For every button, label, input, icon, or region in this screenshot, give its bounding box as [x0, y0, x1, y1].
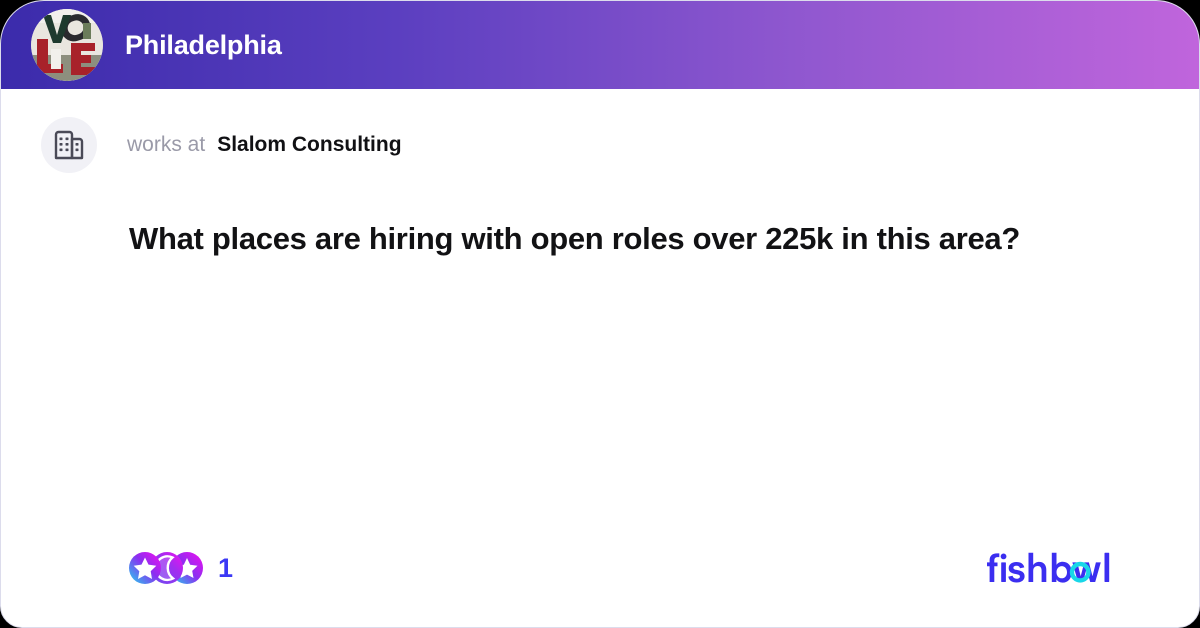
- reactions-group[interactable]: 1: [129, 552, 233, 584]
- star-reaction-icon: [129, 552, 161, 584]
- works-at-label: works at: [127, 133, 205, 157]
- reaction-badges[interactable]: [129, 552, 205, 584]
- company-name: Slalom Consulting: [217, 133, 401, 157]
- author-affiliation-row: works at Slalom Consulting: [1, 89, 1199, 173]
- card-body: works at Slalom Consulting What places a…: [1, 89, 1199, 627]
- card-header: Philadelphia: [1, 1, 1199, 89]
- post-question-text: What places are hiring with open roles o…: [1, 173, 1199, 259]
- building-icon: [41, 117, 97, 173]
- group-title: Philadelphia: [125, 30, 282, 61]
- philadelphia-love-sculpture-avatar[interactable]: [31, 9, 103, 81]
- reaction-count: 1: [218, 555, 233, 582]
- fishbowl-logo: [985, 546, 1127, 590]
- card-footer: 1: [1, 545, 1199, 591]
- post-card: Philadelphia: [0, 0, 1200, 628]
- affiliation-text: works at Slalom Consulting: [127, 133, 402, 157]
